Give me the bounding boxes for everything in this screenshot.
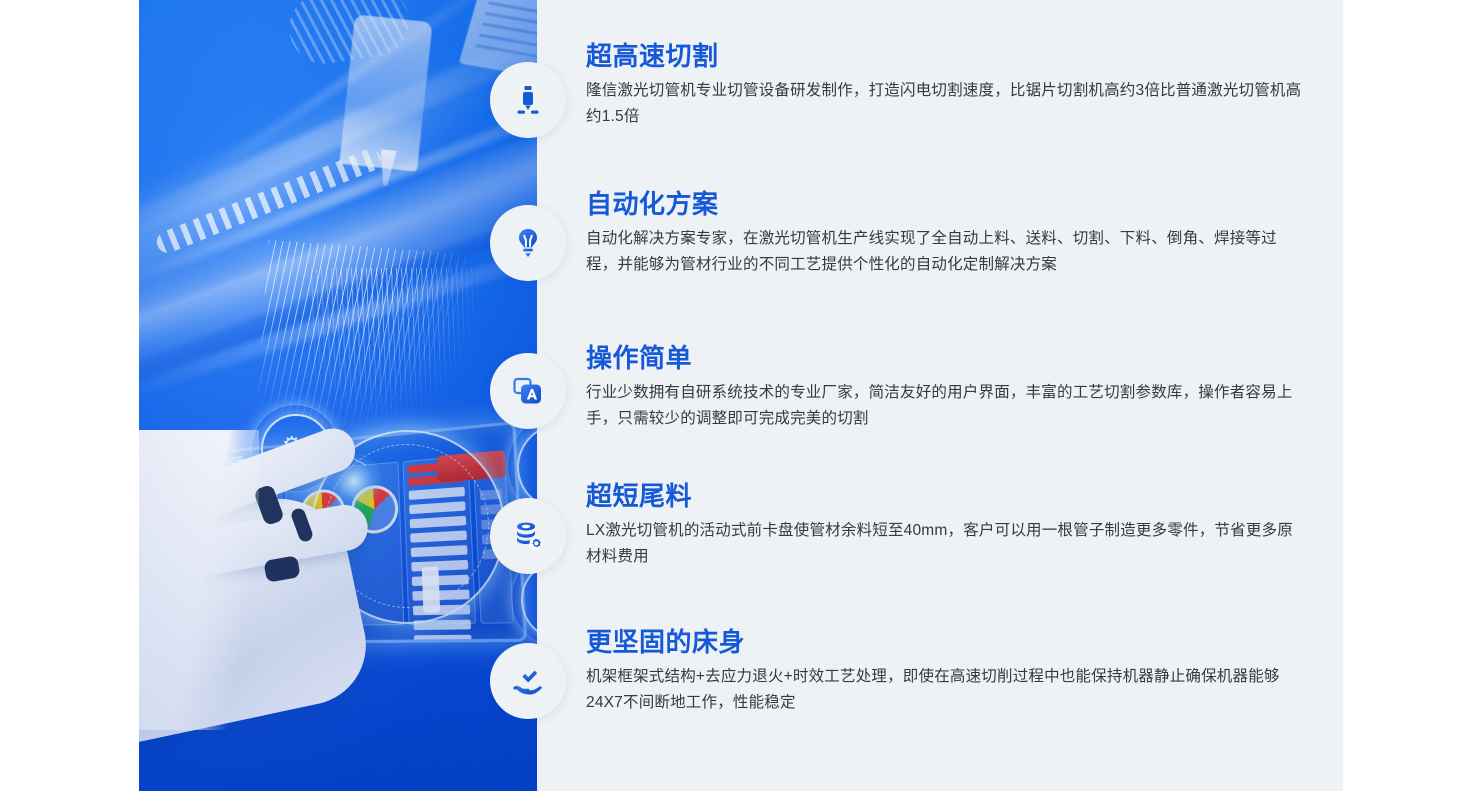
feature-body: 隆信激光切管机专业切管设备研发制作，打造闪电切割速度，比锯片切割机高约3倍比普通… xyxy=(586,78,1306,130)
feature-icon-badge xyxy=(490,205,566,281)
feature-body: LX激光切管机的活动式前卡盘使管材余料短至40mm，客户可以用一根管子制造更多零… xyxy=(586,518,1306,570)
feature-title: 超高速切割 xyxy=(586,42,1306,72)
feature-title: 操作简单 xyxy=(586,344,1306,374)
feature-title: 自动化方案 xyxy=(586,190,1306,220)
features-panel: 超高速切割 隆信激光切管机专业切管设备研发制作，打造闪电切割速度，比锯片切割机高… xyxy=(537,0,1343,791)
feature-body: 行业少数拥有自研系统技术的专业厂家，简洁友好的用户界面，丰富的工艺切割参数库，操… xyxy=(586,380,1306,432)
feature-text: 自动化方案 自动化解决方案专家，在激光切管机生产线实现了全自动上料、送料、切割、… xyxy=(586,190,1306,278)
database-gear-icon xyxy=(511,519,545,553)
feature-text: 更坚固的床身 机架框架式结构+去应力退火+时效工艺处理，即使在高速切削过程中也能… xyxy=(586,628,1306,716)
feature-icon-badge xyxy=(490,353,566,429)
hand-check-icon xyxy=(511,664,545,698)
image-fade-corner xyxy=(139,430,259,730)
feature-title: 超短尾料 xyxy=(586,482,1306,512)
feature-icon-badge xyxy=(490,498,566,574)
laser-cutting-head-icon xyxy=(511,83,545,117)
feature-title: 更坚固的床身 xyxy=(586,628,1306,658)
feature-body: 自动化解决方案专家，在激光切管机生产线实现了全自动上料、送料、切割、下料、倒角、… xyxy=(586,226,1306,278)
feature-text: 超短尾料 LX激光切管机的活动式前卡盘使管材余料短至40mm，客户可以用一根管子… xyxy=(586,482,1306,570)
feature-body: 机架框架式结构+去应力退火+时效工艺处理，即使在高速切削过程中也能保持机器静止确… xyxy=(586,664,1306,716)
feature-icon-badge xyxy=(490,643,566,719)
feature-icon-badge xyxy=(490,62,566,138)
lightbulb-icon xyxy=(511,226,545,260)
hero-image-panel: XLASER xyxy=(139,0,537,791)
feature-text: 超高速切割 隆信激光切管机专业切管设备研发制作，打造闪电切割速度，比锯片切割机高… xyxy=(586,42,1306,130)
feature-text: 操作简单 行业少数拥有自研系统技术的专业厂家，简洁友好的用户界面，丰富的工艺切割… xyxy=(586,344,1306,432)
page-root: XLASER xyxy=(0,0,1480,791)
app-card-a-icon xyxy=(511,374,545,408)
